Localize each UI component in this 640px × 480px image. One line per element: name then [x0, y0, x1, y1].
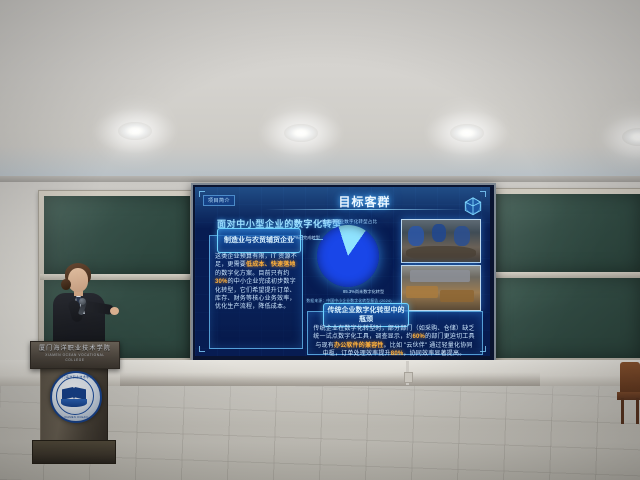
chalkboard-right-upper — [494, 194, 640, 272]
speaker-head — [68, 268, 88, 292]
ceiling — [0, 0, 640, 186]
podium-base — [32, 440, 116, 464]
chair-back[interactable] — [620, 362, 640, 394]
slide-corner-tl — [199, 191, 205, 197]
blue-cube-icon — [462, 195, 484, 217]
pie-leader-line-1 — [313, 239, 323, 240]
pie-disc — [317, 225, 379, 287]
slide-title: 目标客群 — [307, 193, 422, 210]
slide-section-tab: 项目简介 — [203, 195, 235, 206]
factory-workshop-photo — [401, 219, 481, 263]
speaker-hair-bun — [61, 279, 71, 290]
ceiling-downlight-3 — [450, 124, 484, 142]
pie-label-large: 85.3%尚未数字化转型 — [343, 289, 384, 295]
wall-ceiling-rail — [0, 176, 640, 182]
podium-name-plate: 厦门海洋职业技术学院 XIAMEN OCEAN VOCATIONAL COLLE… — [35, 345, 115, 363]
chalkboard-left-upper — [44, 196, 190, 274]
ceiling-downlight-2 — [284, 124, 318, 142]
presentation-slide: 项目简介 目标客群 面对中小型企业的数字化转型 制造业与农贸辅货企业 这类企业预… — [195, 187, 490, 356]
pie-label-small: 14.7%已完成转型 — [287, 235, 320, 241]
left-box-body: 这类企业预算有限，IT 资源不足，更需要低成本、快速落地的数字化方案。目前只有约… — [215, 253, 297, 312]
pie-chart — [317, 225, 379, 287]
slide-corner-bl — [199, 346, 205, 352]
lecture-hall-photo: 项目简介 目标客群 面对中小型企业的数字化转型 制造业与农贸辅货企业 这类企业预… — [0, 0, 640, 480]
bottom-body-hl3: 80% — [391, 351, 404, 356]
slide-corner-br — [480, 346, 486, 352]
slide-corner-tr — [480, 191, 486, 197]
projection-screen[interactable]: 项目简介 目标客群 面对中小型企业的数字化转型 制造业与农贸辅货企业 这类企业预… — [191, 183, 496, 362]
warehouse-bench-photo — [401, 265, 481, 311]
bottom-body-hl2: 办公软件的兼容性 — [334, 343, 384, 349]
wall-outlet — [404, 372, 413, 383]
bottom-box-header: 传统企业数字化转型中的瓶颈 — [323, 303, 409, 327]
speaker-hand — [110, 307, 119, 315]
crest-wave-icon — [61, 399, 87, 407]
university-crest: 厦门海洋职业技术学院 XIAMEN OCEAN — [50, 371, 102, 423]
podium-name-en: XIAMEN OCEAN VOCATIONAL COLLEGE — [35, 353, 115, 363]
left-body-hl1: 低成本、快速落地 — [246, 262, 296, 268]
podium-name-cn: 厦门海洋职业技术学院 — [35, 345, 115, 353]
chair-leg-left — [621, 398, 624, 424]
crest-top-text: 厦门海洋职业技术学院 — [52, 375, 100, 379]
left-body-hl2: 30% — [215, 279, 228, 285]
bottom-body-hl1: 60% — [412, 334, 425, 340]
bottom-box-body: 传统企业在数字化转型时，部分部门（如采购、仓储）缺乏统一试点数字化工具，调查显示… — [313, 325, 475, 356]
microphone-head — [79, 298, 86, 305]
bottom-body-after: ，协同效率显著提高。 — [403, 351, 465, 356]
left-body-mid: 的数字化方案。目前只有约 — [215, 271, 289, 277]
chair-leg-right — [636, 398, 639, 424]
ceiling-downlight-1 — [118, 122, 152, 140]
chalkboard-right-lower — [494, 278, 640, 358]
title-underline — [265, 209, 465, 210]
podium-top: 厦门海洋职业技术学院 XIAMEN OCEAN VOCATIONAL COLLE… — [30, 341, 120, 369]
left-body-after: 的中小企业完成初步数字化转型，它们希望提升订单、库存、财务等核心业务效率，优化生… — [215, 279, 296, 310]
crest-bottom-text: XIAMEN OCEAN — [52, 416, 100, 419]
